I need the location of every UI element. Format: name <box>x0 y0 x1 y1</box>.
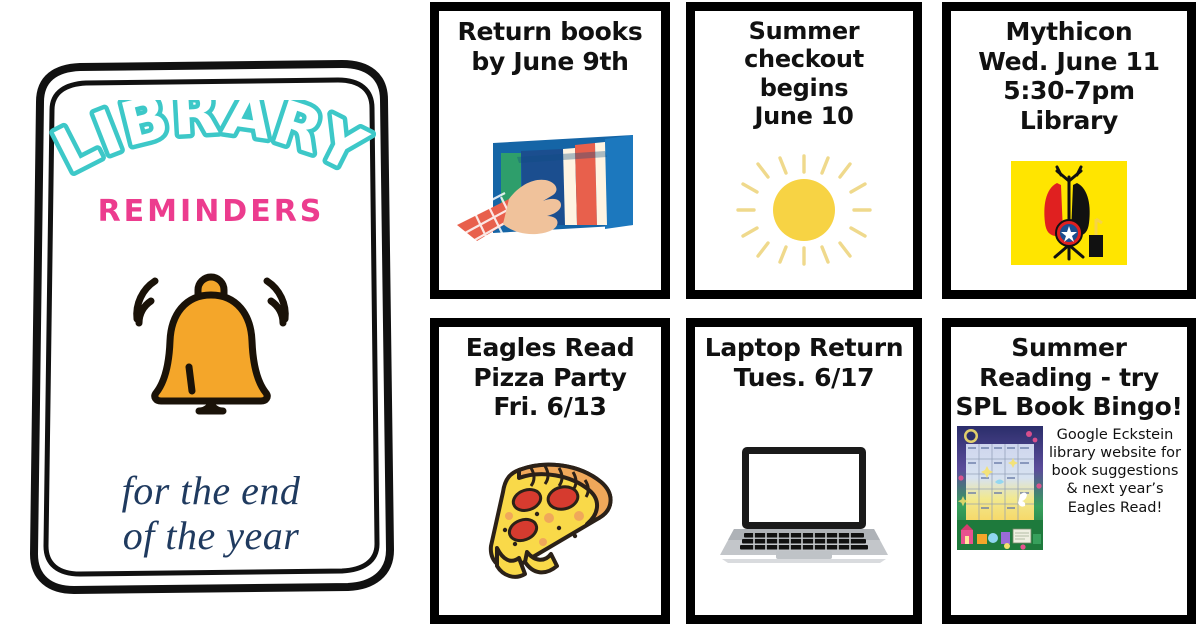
title-line: Library <box>978 106 1159 136</box>
title-line: 5:30-7pm <box>978 76 1159 106</box>
poster-canvas: LIBRARY LIBRARY REMINDERS <box>0 0 1200 628</box>
title-line: Fri. 6/13 <box>466 392 635 422</box>
title-line: begins <box>744 74 864 102</box>
title-line: by June 9th <box>458 47 643 77</box>
library-wordmark: LIBRARY LIBRARY <box>46 100 376 192</box>
title-line: Summer <box>744 17 864 45</box>
card-eagles-read-pizza[interactable]: Eagles Read Pizza Party Fri. 6/13 <box>430 318 670 624</box>
tagline-line-1: for the end <box>122 469 301 514</box>
summer-reading-body: Google Eckstein library website for book… <box>951 422 1187 556</box>
card-return-books[interactable]: Return books by June 9th <box>430 2 670 299</box>
card-laptop-return[interactable]: Laptop Return Tues. 6/17 <box>686 318 922 624</box>
card-eagles-read-pizza-title: Eagles Read Pizza Party Fri. 6/13 <box>462 327 639 422</box>
svg-text:LIBRARY: LIBRARY <box>46 100 376 187</box>
card-mythicon[interactable]: Mythicon Wed. June 11 5:30-7pm Library <box>942 2 1196 299</box>
bell-icon <box>111 255 311 435</box>
reminders-wordmark: REMINDERS <box>98 194 325 229</box>
title-line: Pizza Party <box>466 363 635 393</box>
tagline-line-2: of the year <box>122 514 301 559</box>
card-summer-reading-bingo-title: Summer Reading - try SPL Book Bingo! <box>951 327 1186 422</box>
card-summer-checkout-title: Summer checkout begins June 10 <box>740 11 868 130</box>
title-line: Tues. 6/17 <box>705 363 904 393</box>
card-summer-reading-bingo[interactable]: Summer Reading - try SPL Book Bingo! <box>942 318 1196 624</box>
card-mythicon-title: Mythicon Wed. June 11 5:30-7pm Library <box>974 11 1163 135</box>
tagline: for the end of the year <box>122 469 301 559</box>
title-line: Summer <box>955 333 1182 363</box>
title-line: SPL Book Bingo! <box>955 392 1182 422</box>
title-line: checkout <box>744 45 864 73</box>
sun-icon <box>695 130 913 290</box>
reminder-card-grid: Return books by June 9th <box>430 2 1196 624</box>
card-return-books-title: Return books by June 9th <box>454 11 647 76</box>
title-line: Wed. June 11 <box>978 47 1159 77</box>
brand-block: LIBRARY LIBRARY REMINDERS <box>22 58 400 598</box>
title-line: June 10 <box>744 102 864 130</box>
title-line: Laptop Return <box>705 333 904 363</box>
card-laptop-return-title: Laptop Return Tues. 6/17 <box>701 327 908 392</box>
title-line: Eagles Read <box>466 333 635 363</box>
summer-reading-note: Google Eckstein library website for book… <box>1049 426 1181 517</box>
laptop-icon <box>695 392 913 615</box>
coat-rack-capes-icon <box>951 135 1187 290</box>
title-line: Reading - try <box>955 363 1182 393</box>
pizza-slice-icon <box>439 422 661 616</box>
card-summer-checkout[interactable]: Summer checkout begins June 10 <box>686 2 922 299</box>
book-bingo-card-thumbnail <box>957 426 1043 550</box>
library-reminders-panel: LIBRARY LIBRARY REMINDERS <box>0 0 422 628</box>
title-line: Return books <box>458 17 643 47</box>
title-line: Mythicon <box>978 17 1159 47</box>
book-return-bin-icon <box>439 76 661 290</box>
library-wordmark-text-inner: LIBRARY <box>46 100 376 187</box>
